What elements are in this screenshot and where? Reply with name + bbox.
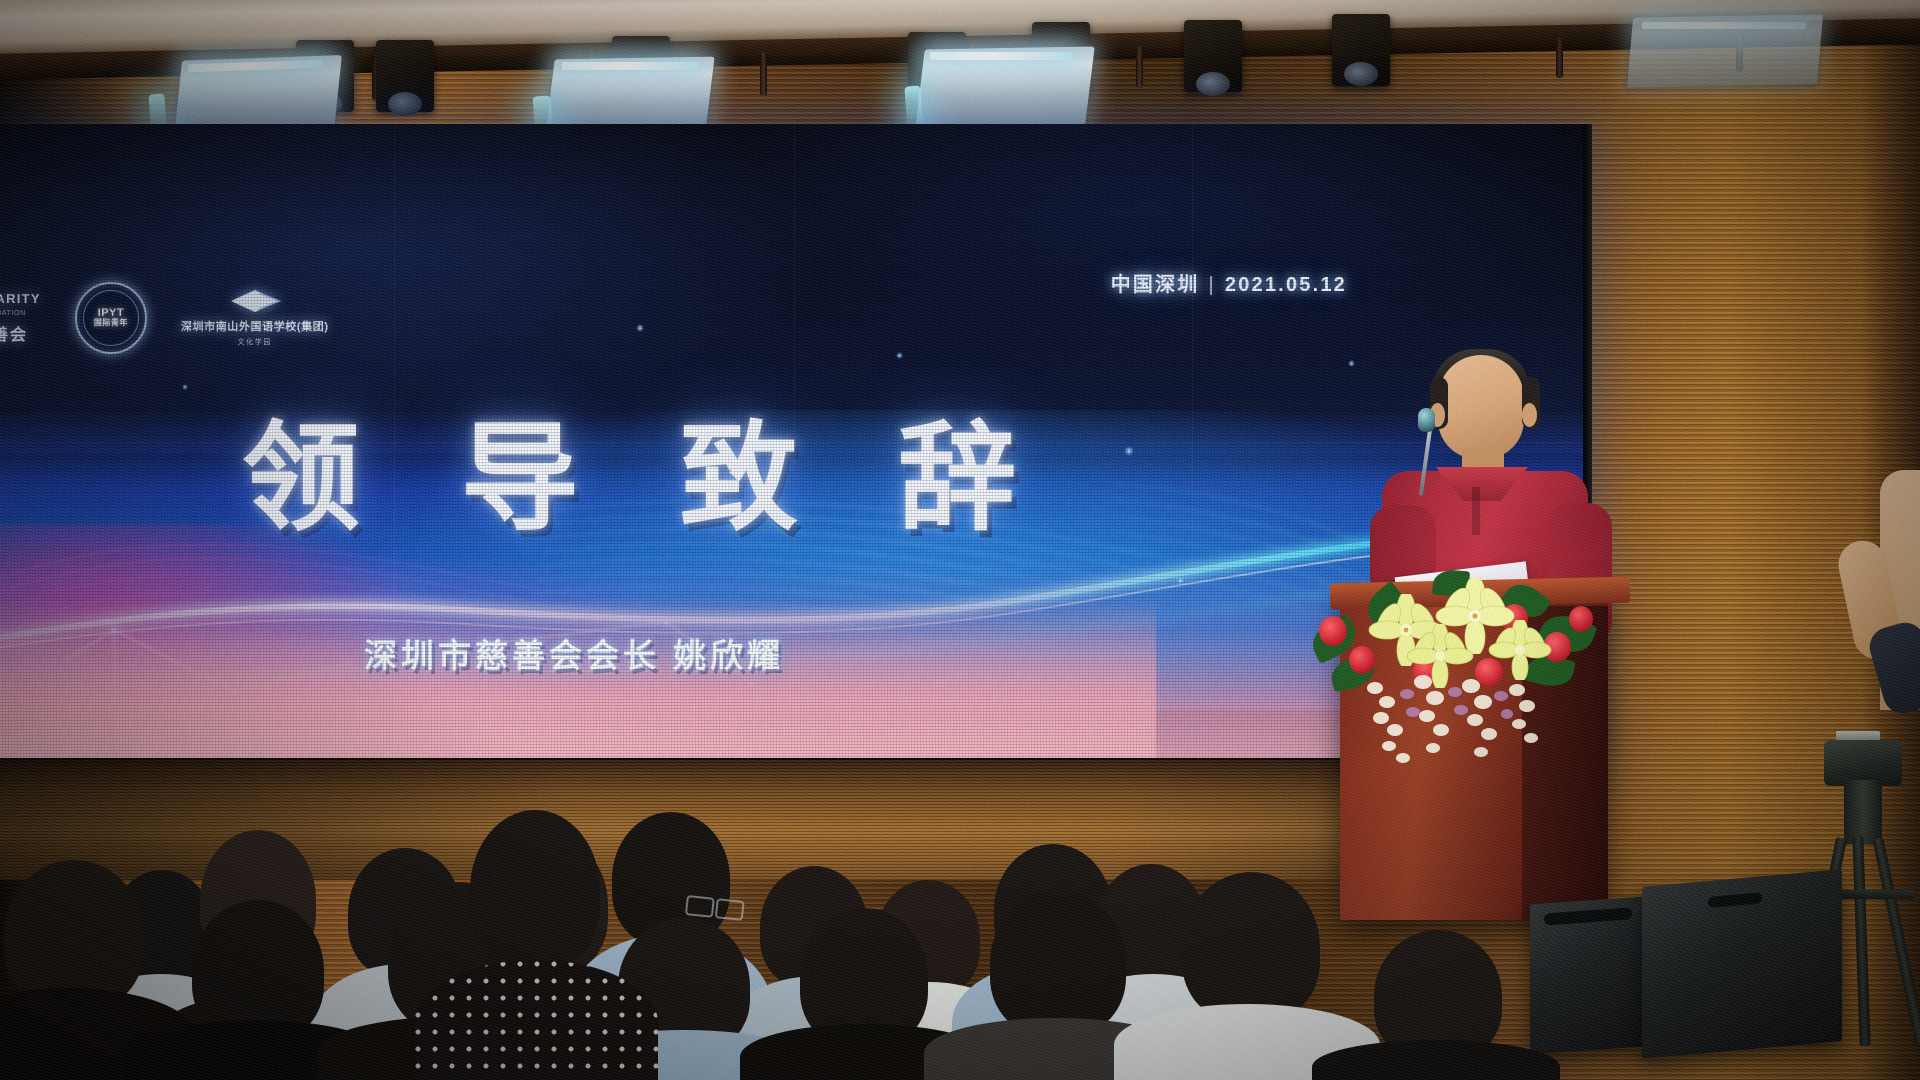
panel-light-tube bbox=[1642, 22, 1806, 29]
screen-date-text: 2021.05.12 bbox=[1225, 274, 1347, 296]
logo-charity: CHARITY FOUNDATION 慈善会 bbox=[0, 291, 41, 345]
sparkle-dot bbox=[1124, 446, 1134, 456]
audience-group bbox=[0, 660, 1920, 1080]
ceiling-lighting-truss bbox=[0, 0, 1920, 136]
audience-shoulders bbox=[414, 960, 658, 1080]
speaker-shirt-placket bbox=[1472, 487, 1480, 535]
sparkle-dot bbox=[636, 324, 644, 332]
led-panel-seam bbox=[0, 442, 1592, 443]
spotlight-lens bbox=[388, 92, 422, 116]
logo-emblem-line1: IPYT bbox=[94, 308, 128, 318]
microphone-head bbox=[1418, 408, 1435, 432]
logo-school-chinese: 深圳市南山外国语学校(集团) bbox=[181, 318, 329, 334]
rose-red bbox=[1569, 606, 1593, 632]
rose-red bbox=[1319, 616, 1347, 646]
logo-school-sub: 文化学园 bbox=[238, 337, 272, 347]
logo-school: 深圳市南山外国语学校(集团) 文化学园 bbox=[181, 289, 329, 347]
truss-rod bbox=[1136, 46, 1143, 88]
truss-rod bbox=[760, 52, 767, 96]
audience-member bbox=[430, 810, 640, 1080]
sponsor-logo-row: CHARITY FOUNDATION 慈善会 IPYT 国际青年 深圳市南山外国… bbox=[0, 282, 329, 354]
logo-charity-english-sub: FOUNDATION bbox=[0, 310, 26, 317]
sparkle-dot bbox=[1176, 576, 1185, 585]
conference-stage-photo: CHARITY FOUNDATION 慈善会 IPYT 国际青年 深圳市南山外国… bbox=[0, 0, 1920, 1080]
screen-title: 领 导 致 辞 bbox=[242, 420, 1050, 538]
sparkle-dot bbox=[182, 384, 188, 390]
logo-charity-chinese: 慈善会 bbox=[0, 321, 28, 345]
logo-emblem-core: IPYT 国际青年 bbox=[94, 308, 128, 328]
spotlight-lens bbox=[1344, 62, 1378, 86]
panel-light-tube bbox=[562, 62, 698, 70]
logo-emblem-line2: 国际青年 bbox=[94, 318, 128, 328]
truss-rod bbox=[1556, 38, 1563, 78]
date-separator: | bbox=[1208, 274, 1215, 296]
screen-location-text: 中国深圳 bbox=[1111, 274, 1200, 296]
audience-member bbox=[1330, 930, 1540, 1080]
sparkle-dot bbox=[1348, 360, 1355, 367]
speaker-ear-right bbox=[1522, 403, 1537, 427]
screen-date-line: 中国深圳|2021.05.12 bbox=[1111, 268, 1347, 297]
audience-member bbox=[1136, 872, 1356, 1080]
audience-hair bbox=[470, 810, 600, 970]
panel-light-tube bbox=[930, 52, 1072, 60]
audience-hair bbox=[990, 890, 1126, 1036]
audience-hair bbox=[1182, 872, 1320, 1022]
speaker-head bbox=[1438, 355, 1524, 459]
spotlight-lens bbox=[1196, 72, 1230, 96]
audience-shoulders bbox=[1312, 1040, 1560, 1080]
sparkle-dot bbox=[896, 352, 903, 359]
graduation-cap-star-icon bbox=[229, 289, 281, 315]
audience-glasses bbox=[685, 895, 744, 917]
logo-charity-english: CHARITY bbox=[0, 291, 41, 306]
logo-emblem: IPYT 国际青年 bbox=[75, 282, 147, 354]
